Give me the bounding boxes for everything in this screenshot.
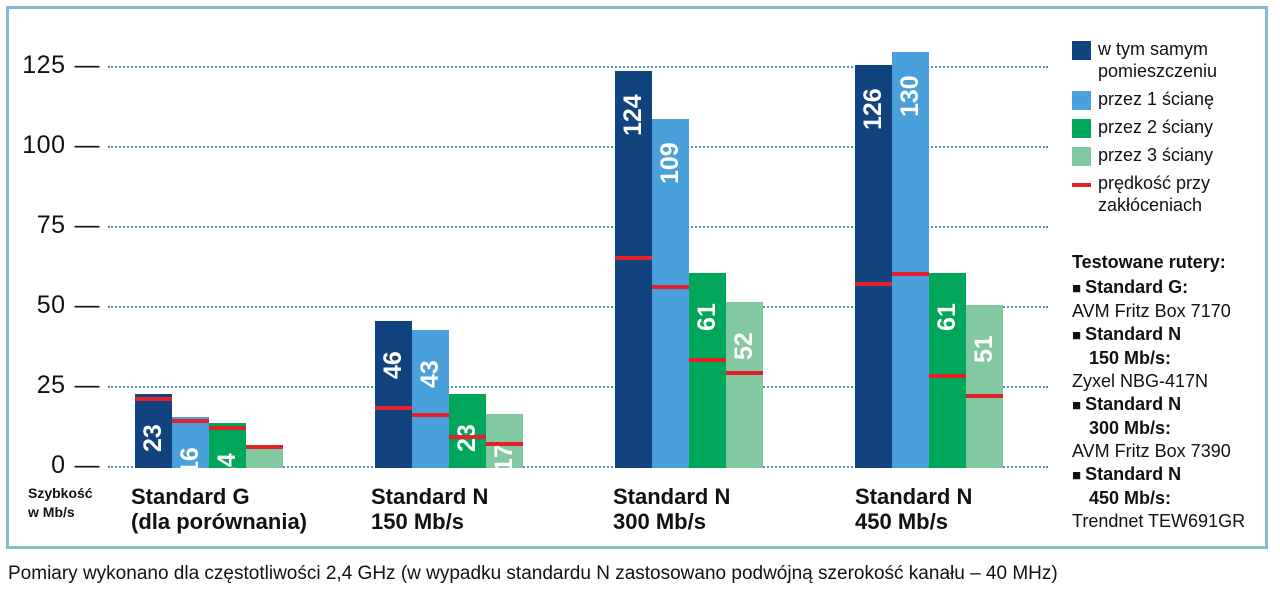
interference-marker xyxy=(486,442,523,446)
bar[interactable]: 14 xyxy=(209,423,246,468)
chart-page: 23161474643231712410961521261306151 125—… xyxy=(0,0,1280,607)
legend-item[interactable]: w tym samym pomieszczeniu xyxy=(1072,38,1257,82)
y-tick-dash: — xyxy=(75,371,101,400)
bar-value-label: 130 xyxy=(892,58,929,134)
axis-caption-line1: Szybkość xyxy=(28,484,93,503)
x-axis-group-label: Standard N150 Mb/s xyxy=(371,484,488,534)
y-tick-dash: — xyxy=(75,131,101,160)
tested-routers-list: Testowane rutery:■Standard G:AVM Fritz B… xyxy=(1072,252,1267,533)
router-standard: Standard N xyxy=(1085,394,1181,414)
router-entry-head: ■Standard N xyxy=(1072,393,1267,417)
y-tick-dash: — xyxy=(75,211,101,240)
router-model: Zyxel NBG-417N xyxy=(1072,370,1267,393)
x-axis-group-label: Standard G(dla porównania) xyxy=(131,484,307,534)
bullet-square-icon: ■ xyxy=(1072,397,1081,414)
y-tick-value: 75 xyxy=(37,211,66,239)
x-label-line1: Standard G xyxy=(131,484,307,509)
router-entry-head: ■Standard N xyxy=(1072,463,1267,487)
axis-caption: Szybkośćw Mb/s xyxy=(28,484,93,522)
legend-swatch-icon xyxy=(1072,119,1091,138)
router-entry-head: ■Standard N xyxy=(1072,323,1267,347)
x-label-line1: Standard N xyxy=(855,484,972,509)
interference-marker xyxy=(726,371,763,375)
legend: w tym samym pomieszczeniuprzez 1 ścianęp… xyxy=(1072,38,1257,222)
bar[interactable]: 124 xyxy=(615,71,652,468)
bar-value-label: 51 xyxy=(966,311,1003,387)
x-label-line2: 300 Mb/s xyxy=(613,509,730,534)
bar[interactable]: 7 xyxy=(246,446,283,468)
x-label-line2: (dla porównania) xyxy=(131,509,307,534)
legend-item[interactable]: prędkość przy zakłóceniach xyxy=(1072,172,1257,216)
router-entry-head: ■Standard G: xyxy=(1072,276,1267,300)
bar-group: 2316147 xyxy=(135,56,283,468)
router-model: Trendnet TEW691GR xyxy=(1072,510,1267,533)
y-axis-tick: 50— xyxy=(0,291,100,320)
router-model: AVM Fritz Box 7390 xyxy=(1072,440,1267,463)
interference-marker xyxy=(689,358,726,362)
y-tick-dash: — xyxy=(75,51,101,80)
bar-value-label: 124 xyxy=(615,77,652,153)
bar-value-label: 46 xyxy=(375,327,412,403)
x-axis-group-label: Standard N450 Mb/s xyxy=(855,484,972,534)
interference-marker xyxy=(135,397,172,401)
interference-marker xyxy=(966,394,1003,398)
legend-swatch-icon xyxy=(1072,41,1091,60)
bar-value-label: 43 xyxy=(412,336,449,412)
y-axis-tick: 100— xyxy=(0,131,100,160)
legend-dash-icon xyxy=(1072,183,1091,187)
interference-marker xyxy=(892,272,929,276)
router-standard: Standard N xyxy=(1085,464,1181,484)
bar-value-label: 109 xyxy=(652,125,689,201)
interference-marker xyxy=(615,256,652,260)
interference-marker xyxy=(929,374,966,378)
y-tick-dash: — xyxy=(75,451,101,480)
interference-marker xyxy=(375,406,412,410)
bar[interactable]: 51 xyxy=(966,305,1003,468)
legend-label: w tym samym pomieszczeniu xyxy=(1098,38,1257,82)
y-axis-tick: 25— xyxy=(0,371,100,400)
routers-title: Testowane rutery: xyxy=(1072,252,1267,273)
bar-group: 1241096152 xyxy=(615,56,763,468)
legend-item[interactable]: przez 2 ściany xyxy=(1072,116,1257,138)
y-tick-value: 0 xyxy=(51,451,65,479)
bar-value-label: 61 xyxy=(689,279,726,355)
footer-caption: Pomiary wykonano dla częstotliwości 2,4 … xyxy=(8,563,1272,585)
bar[interactable]: 61 xyxy=(689,273,726,468)
bullet-square-icon: ■ xyxy=(1072,327,1081,344)
y-axis-tick: 75— xyxy=(0,211,100,240)
bar-value-label: 61 xyxy=(929,279,966,355)
bullet-square-icon: ■ xyxy=(1072,467,1081,484)
y-tick-value: 50 xyxy=(37,291,66,319)
y-axis-tick: 125— xyxy=(0,51,100,80)
legend-label: prędkość przy zakłóceniach xyxy=(1098,172,1257,216)
bar[interactable]: 109 xyxy=(652,119,689,468)
x-label-line2: 450 Mb/s xyxy=(855,509,972,534)
router-speed: 450 Mb/s: xyxy=(1072,487,1267,510)
x-label-line1: Standard N xyxy=(613,484,730,509)
bar[interactable]: 52 xyxy=(726,302,763,468)
bar[interactable]: 46 xyxy=(375,321,412,468)
interference-marker xyxy=(246,445,283,449)
y-tick-value: 100 xyxy=(22,131,65,159)
x-axis-group-label: Standard N300 Mb/s xyxy=(613,484,730,534)
router-model: AVM Fritz Box 7170 xyxy=(1072,300,1267,323)
legend-item[interactable]: przez 1 ścianę xyxy=(1072,88,1257,110)
y-tick-value: 25 xyxy=(37,371,66,399)
bar[interactable]: 126 xyxy=(855,65,892,468)
bar[interactable]: 130 xyxy=(892,52,929,468)
legend-label: przez 3 ściany xyxy=(1098,144,1213,166)
router-speed: 150 Mb/s: xyxy=(1072,347,1267,370)
bar-value-label: 17 xyxy=(486,420,523,496)
bar-group: 1261306151 xyxy=(855,56,1003,468)
legend-label: przez 2 ściany xyxy=(1098,116,1213,138)
bar[interactable]: 23 xyxy=(449,394,486,468)
bar-value-label: 23 xyxy=(135,400,172,476)
x-label-line2: 150 Mb/s xyxy=(371,509,488,534)
bar[interactable]: 17 xyxy=(486,414,523,468)
legend-swatch-icon xyxy=(1072,147,1091,166)
interference-marker xyxy=(209,426,246,430)
interference-marker xyxy=(652,285,689,289)
y-axis-tick: 0— xyxy=(0,451,100,480)
interference-marker xyxy=(855,282,892,286)
bar-group: 46432317 xyxy=(375,56,523,468)
x-label-line1: Standard N xyxy=(371,484,488,509)
interference-marker xyxy=(449,435,486,439)
router-speed: 300 Mb/s: xyxy=(1072,417,1267,440)
router-standard: Standard N xyxy=(1085,324,1181,344)
axis-caption-line2: w Mb/s xyxy=(28,503,93,522)
legend-item[interactable]: przez 3 ściany xyxy=(1072,144,1257,166)
bar[interactable]: 23 xyxy=(135,394,172,468)
legend-label: przez 1 ścianę xyxy=(1098,88,1214,110)
interference-marker xyxy=(412,413,449,417)
bar[interactable]: 43 xyxy=(412,330,449,468)
router-standard: Standard G: xyxy=(1085,277,1188,297)
y-tick-value: 125 xyxy=(22,51,65,79)
legend-swatch-icon xyxy=(1072,91,1091,110)
bar[interactable]: 16 xyxy=(172,417,209,468)
bar[interactable]: 61 xyxy=(929,273,966,468)
interference-marker xyxy=(172,419,209,423)
bar-value-label: 126 xyxy=(855,71,892,147)
bullet-square-icon: ■ xyxy=(1072,280,1081,297)
plot-area: 23161474643231712410961521261306151 xyxy=(108,56,1048,468)
y-tick-dash: — xyxy=(75,291,101,320)
